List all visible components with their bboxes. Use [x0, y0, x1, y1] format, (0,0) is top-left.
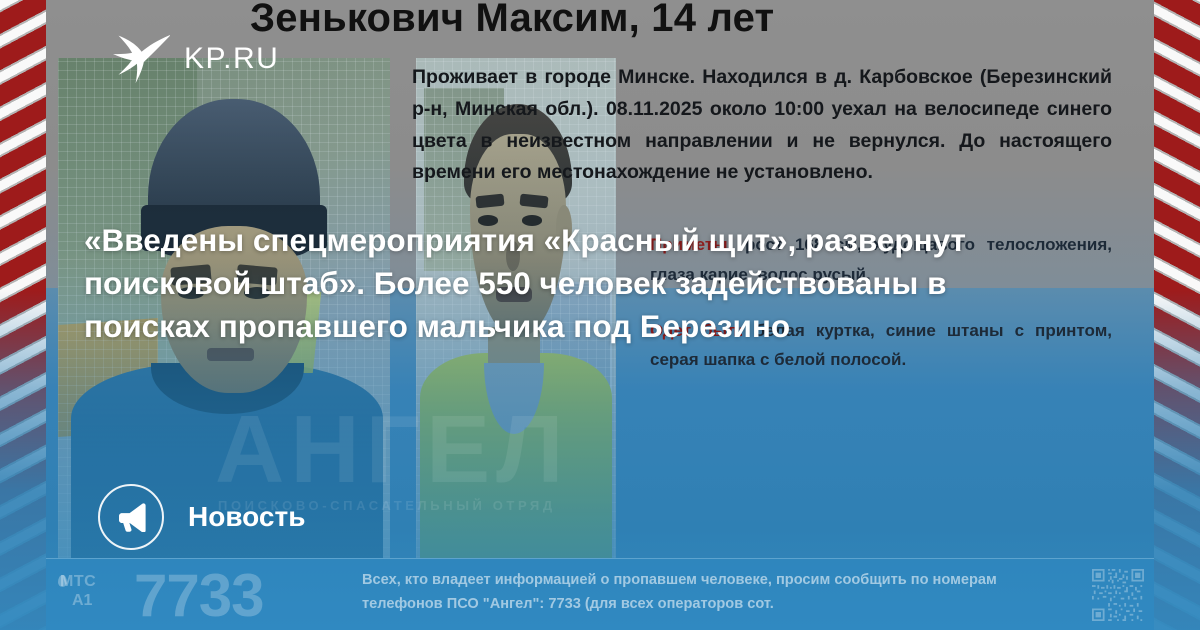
striped-border-left [0, 0, 46, 630]
brand-lockup[interactable]: KP.RU [112, 34, 279, 84]
swallow-bird-icon [112, 34, 170, 84]
qr-code-icon [1092, 569, 1144, 621]
poster-description: Проживает в городе Минске. Находился в д… [412, 62, 1112, 191]
hotline-number: 7733 [134, 561, 263, 630]
photo-1-mouth [207, 348, 253, 361]
news-badge[interactable]: Новость [98, 484, 305, 550]
footer-notice: Всех, кто владеет информацией о пропавше… [362, 569, 1062, 616]
photo-2-brow-right [519, 194, 548, 209]
poster-title: Зенькович Максим, 14 лет [250, 0, 1010, 41]
operator-a1-label: А1 [72, 592, 92, 610]
megaphone-icon [98, 484, 164, 550]
operator-mts-label: МТС [60, 573, 96, 591]
poster-description-text: Проживает в городе Минске. Находился в д… [412, 62, 1112, 189]
poster-footer: МТС А1 7733 Всех, кто владеет информацие… [46, 558, 1154, 630]
photo-2-shirt [420, 353, 612, 566]
photo-1-collar [151, 363, 304, 414]
photo-2-collar [484, 363, 544, 434]
photo-2-brow-left [475, 194, 504, 209]
brand-name: KP.RU [184, 42, 279, 76]
headline: «Введены спецмероприятия «Красный щит», … [84, 219, 986, 347]
striped-border-right [1154, 0, 1200, 630]
news-badge-label: Новость [188, 501, 305, 533]
news-share-card: Зенькович Максим, 14 лет Проживает в гор… [0, 0, 1200, 630]
